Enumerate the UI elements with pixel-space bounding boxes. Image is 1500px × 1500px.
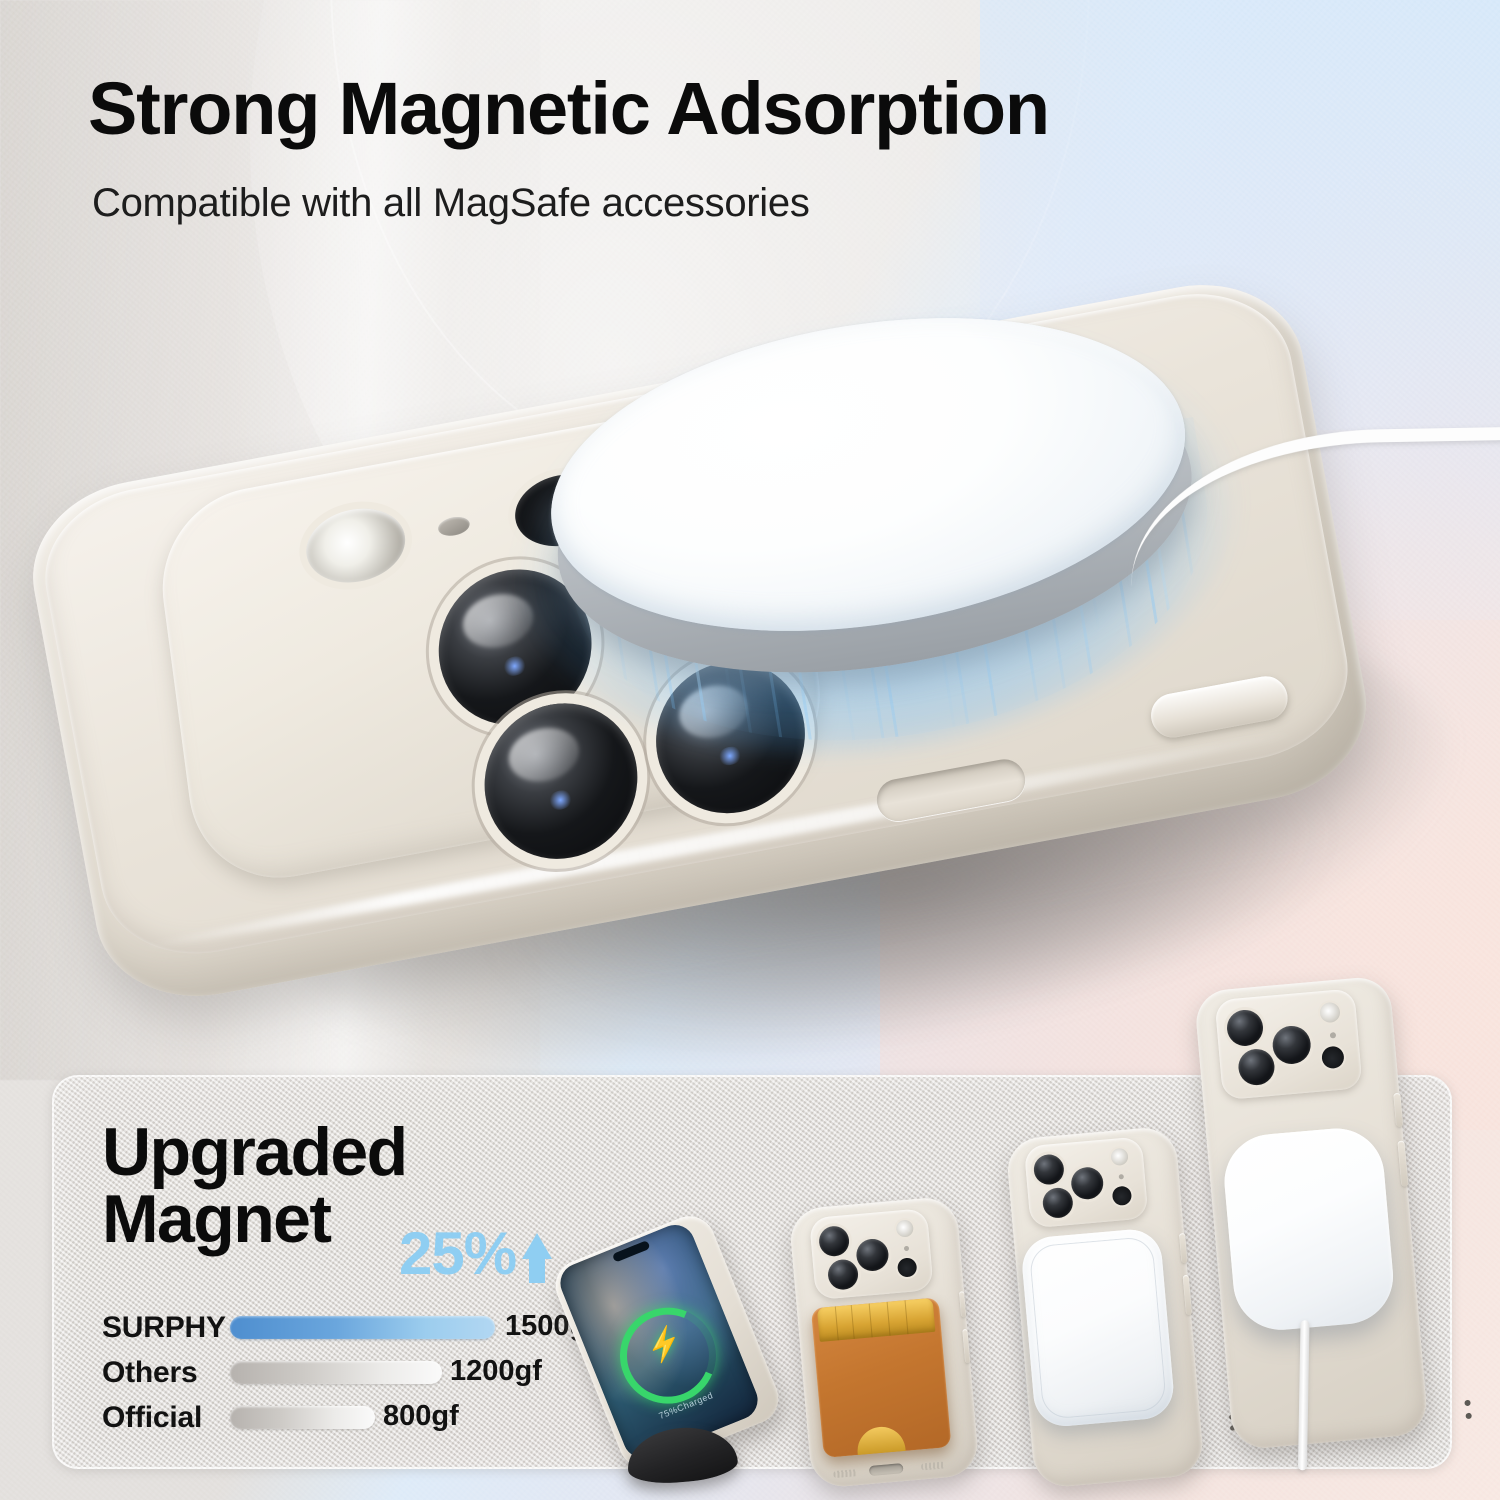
panel-title: Upgraded Magnet	[102, 1119, 407, 1252]
page-subtitle: Compatible with all MagSafe accessories	[92, 181, 1292, 226]
lidar-sensor-icon	[1321, 1045, 1345, 1069]
volume-button	[959, 1291, 966, 1317]
chart-value: 800gf	[383, 1400, 459, 1433]
percent-value: 25%	[399, 1219, 516, 1288]
microphone-icon	[437, 515, 471, 539]
camera-lens	[1237, 1048, 1276, 1087]
microphone-holes	[1464, 1400, 1471, 1407]
wallet-icon	[811, 1297, 952, 1458]
camera-lens	[827, 1258, 860, 1291]
chart-bar	[230, 1406, 375, 1429]
chart-bar-track: 800gf	[230, 1395, 520, 1440]
microphone-icon	[1330, 1032, 1337, 1039]
mini-camera-plateau	[1215, 988, 1363, 1100]
product-marketing-image: Strong Magnetic Adsorption Compatible wi…	[0, 0, 1500, 1500]
arrow-up-icon	[522, 1233, 552, 1259]
accessory-magsafe-charger	[1194, 970, 1497, 1491]
camera-lens	[1042, 1187, 1075, 1220]
accessory-magsafe-wallet	[788, 1191, 1032, 1489]
chart-row: SURPHY 1500gf	[102, 1305, 622, 1350]
chart-bar-track: 1200gf	[230, 1350, 520, 1395]
camera-lens	[1226, 1008, 1265, 1047]
flash-icon	[1319, 1002, 1341, 1024]
percent-badge: 25%	[399, 1219, 552, 1288]
page-title: Strong Magnetic Adsorption	[88, 70, 1348, 148]
flash-icon	[1110, 1148, 1128, 1166]
chart-bar	[230, 1361, 442, 1384]
panel-title-line2: Magnet	[102, 1186, 407, 1253]
battery-pack-icon	[1020, 1227, 1176, 1428]
chart-label: SURPHY	[102, 1311, 230, 1345]
panel-title-line1: Upgraded	[102, 1119, 407, 1186]
chart-bar	[230, 1316, 495, 1339]
camera-lens	[1070, 1166, 1105, 1201]
camera-lens	[855, 1238, 890, 1273]
chart-value: 1200gf	[450, 1355, 542, 1388]
accessory-car-mount-charger: ⚡ 75%Charged	[575, 1232, 785, 1482]
lidar-sensor-icon	[1112, 1185, 1133, 1206]
flash-icon	[302, 501, 410, 591]
camera-lens	[818, 1225, 851, 1258]
chart-row: Others 1200gf	[102, 1350, 622, 1395]
microphone-icon	[904, 1246, 909, 1251]
camera-lens	[1271, 1024, 1312, 1065]
mini-camera-plateau	[1024, 1136, 1149, 1228]
mini-camera-plateau	[809, 1208, 934, 1300]
magnet-strength-chart: SURPHY 1500gf Others 1200gf Official 800…	[102, 1305, 622, 1440]
flash-icon	[896, 1219, 914, 1237]
lidar-sensor-icon	[897, 1257, 918, 1278]
camera-lens	[1033, 1153, 1066, 1186]
chart-label: Official	[102, 1401, 230, 1435]
chart-bar-track: 1500gf	[230, 1305, 520, 1350]
microphone-icon	[1119, 1174, 1124, 1179]
volume-button	[1179, 1233, 1188, 1263]
charger-puck-icon	[1221, 1125, 1397, 1334]
charger-cable	[1298, 1320, 1310, 1470]
chart-label: Others	[102, 1356, 230, 1390]
chart-row: Official 800gf	[102, 1395, 622, 1440]
